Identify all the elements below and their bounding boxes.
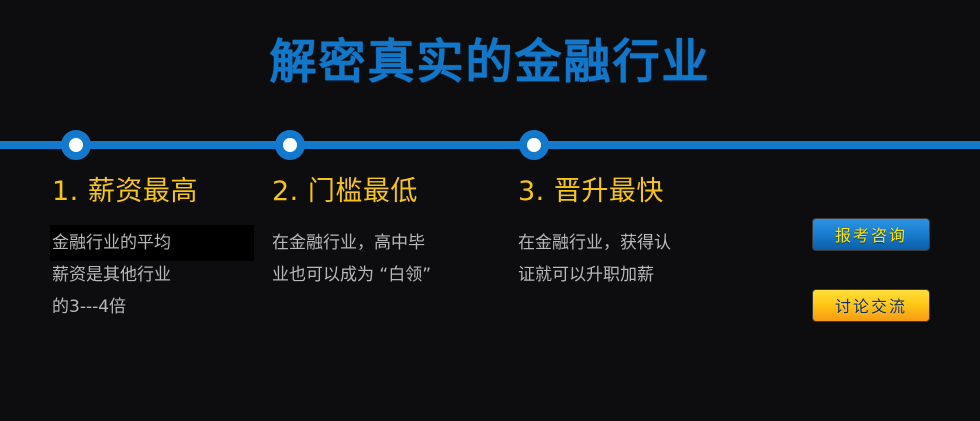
feature-body-1-line-3: 的3---4倍 xyxy=(52,291,252,323)
timeline-dot-1 xyxy=(61,130,91,160)
feature-body-1-line-2: 薪资是其他行业 xyxy=(52,259,252,291)
page-title: 解密真实的金融行业 xyxy=(0,34,980,92)
timeline-dot-2 xyxy=(275,130,305,160)
consult-button[interactable]: 报考咨询 xyxy=(812,218,930,251)
feature-body-3-line-2: 证就可以升职加薪 xyxy=(518,259,743,291)
feature-body-1: 金融行业的平均 薪资是其他行业 的3---4倍 xyxy=(52,227,252,323)
timeline-dot-3 xyxy=(519,130,549,160)
discuss-button[interactable]: 讨论交流 xyxy=(812,289,930,322)
feature-body-1-line-1: 金融行业的平均 xyxy=(52,227,252,259)
promo-banner: 解密真实的金融行业 1. 薪资最高 金融行业的平均 薪资是其他行业 的3---4… xyxy=(0,0,980,421)
feature-heading-2: 2. 门槛最低 xyxy=(272,175,497,209)
feature-body-2-line-1: 在金融行业，高中毕 xyxy=(272,227,497,259)
feature-body-3-line-1: 在金融行业，获得认 xyxy=(518,227,743,259)
feature-heading-1: 1. 薪资最高 xyxy=(52,175,252,209)
timeline-track xyxy=(0,141,980,149)
feature-column-3: 3. 晋升最快 在金融行业，获得认 证就可以升职加薪 xyxy=(518,175,743,291)
feature-heading-3: 3. 晋升最快 xyxy=(518,175,743,209)
feature-column-1: 1. 薪资最高 金融行业的平均 薪资是其他行业 的3---4倍 xyxy=(52,175,252,323)
feature-body-3: 在金融行业，获得认 证就可以升职加薪 xyxy=(518,227,743,291)
feature-body-2-line-2: 业也可以成为 “白领” xyxy=(272,259,497,291)
feature-body-2: 在金融行业，高中毕 业也可以成为 “白领” xyxy=(272,227,497,291)
feature-column-2: 2. 门槛最低 在金融行业，高中毕 业也可以成为 “白领” xyxy=(272,175,497,291)
